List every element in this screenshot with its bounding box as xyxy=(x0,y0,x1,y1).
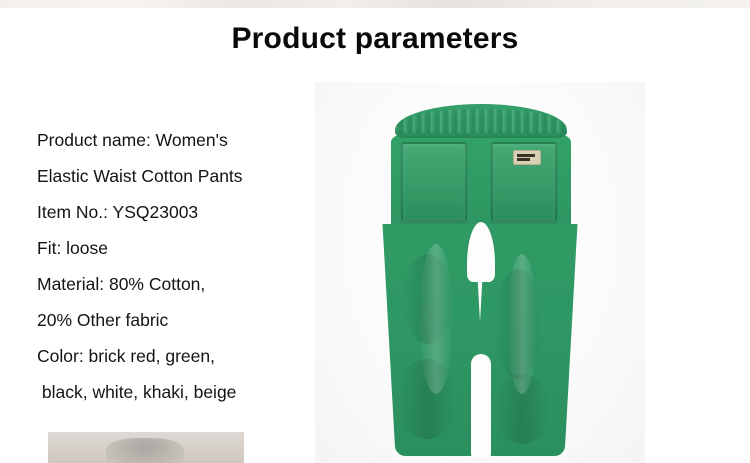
pants-illustration xyxy=(367,104,595,456)
bottom-thumbnail-remnant xyxy=(48,432,244,463)
spec-line-item-no: Item No.: YSQ23003 xyxy=(37,194,327,230)
spec-line-color-2: black, white, khaki, beige xyxy=(37,374,327,410)
fabric-highlight-1 xyxy=(419,244,453,394)
spec-line-product-name-1: Product name: Women's xyxy=(37,122,327,158)
page-title: Product parameters xyxy=(0,22,750,56)
spec-line-material-2: 20% Other fabric xyxy=(37,302,327,338)
brand-label-line-2 xyxy=(517,158,530,161)
product-photo xyxy=(315,82,645,463)
top-image-strip xyxy=(0,0,750,8)
waistband-gather-texture xyxy=(395,109,567,133)
spec-line-material-1: Material: 80% Cotton, xyxy=(37,266,327,302)
brand-label xyxy=(513,150,541,165)
spec-line-color-1: Color: brick red, green, xyxy=(37,338,327,374)
product-parameters-page: Product parameters Product name: Women's… xyxy=(0,0,750,463)
fabric-highlight-2 xyxy=(507,254,537,394)
spec-line-product-name-2: Elastic Waist Cotton Pants xyxy=(37,158,327,194)
spec-line-fit: Fit: loose xyxy=(37,230,327,266)
pants-waistband xyxy=(395,104,567,138)
ankle-gap xyxy=(471,354,491,458)
product-spec-list: Product name: Women's Elastic Waist Cott… xyxy=(37,122,327,410)
bottom-thumbnail-shape xyxy=(106,438,184,463)
pants-left-pocket xyxy=(401,142,467,222)
brand-label-line-1 xyxy=(517,154,535,157)
